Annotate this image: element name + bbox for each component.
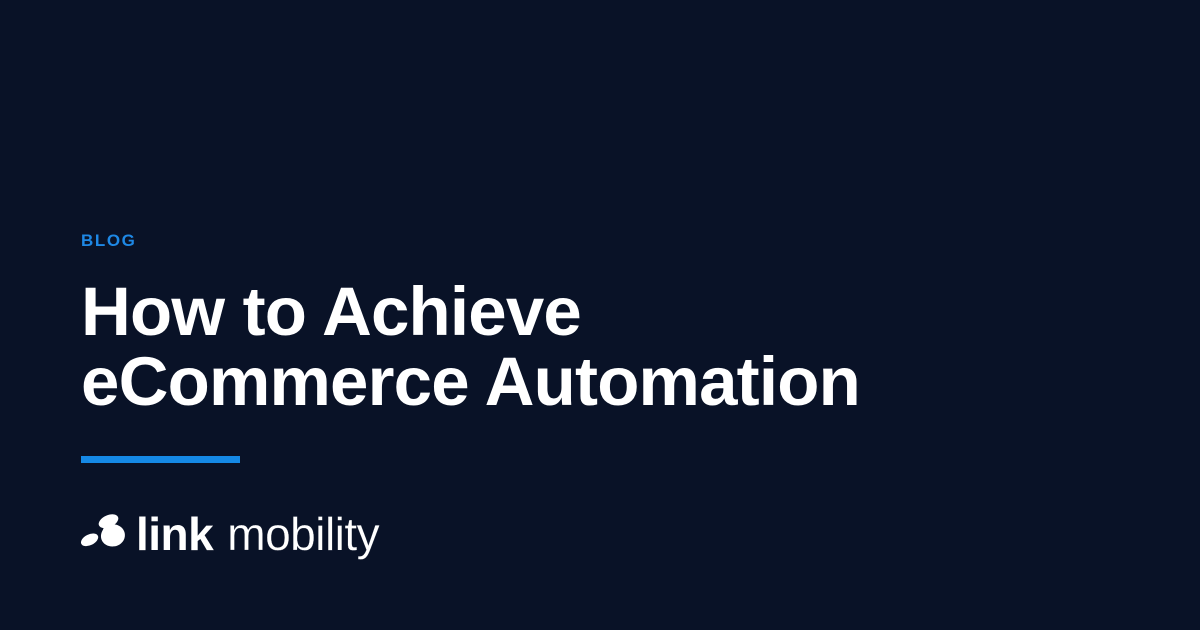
page-title: How to Achieve eCommerce Automation xyxy=(81,277,881,417)
category-eyebrow: BLOG xyxy=(81,232,1121,249)
page-title-line-2: eCommerce Automation xyxy=(81,347,881,417)
brand-logo: linkmobility xyxy=(81,510,1121,558)
card-content: BLOG How to Achieve eCommerce Automation… xyxy=(81,232,1121,558)
blog-share-card: BLOG How to Achieve eCommerce Automation… xyxy=(0,0,1200,630)
logo-wordmark-bold: link xyxy=(136,508,213,560)
accent-divider xyxy=(81,456,240,463)
page-title-line-1: How to Achieve xyxy=(81,277,881,347)
logo-wordmark-light: mobility xyxy=(227,508,379,560)
logo-wordmark: linkmobility xyxy=(136,511,379,557)
link-mobility-logo-mark-icon xyxy=(81,514,127,554)
